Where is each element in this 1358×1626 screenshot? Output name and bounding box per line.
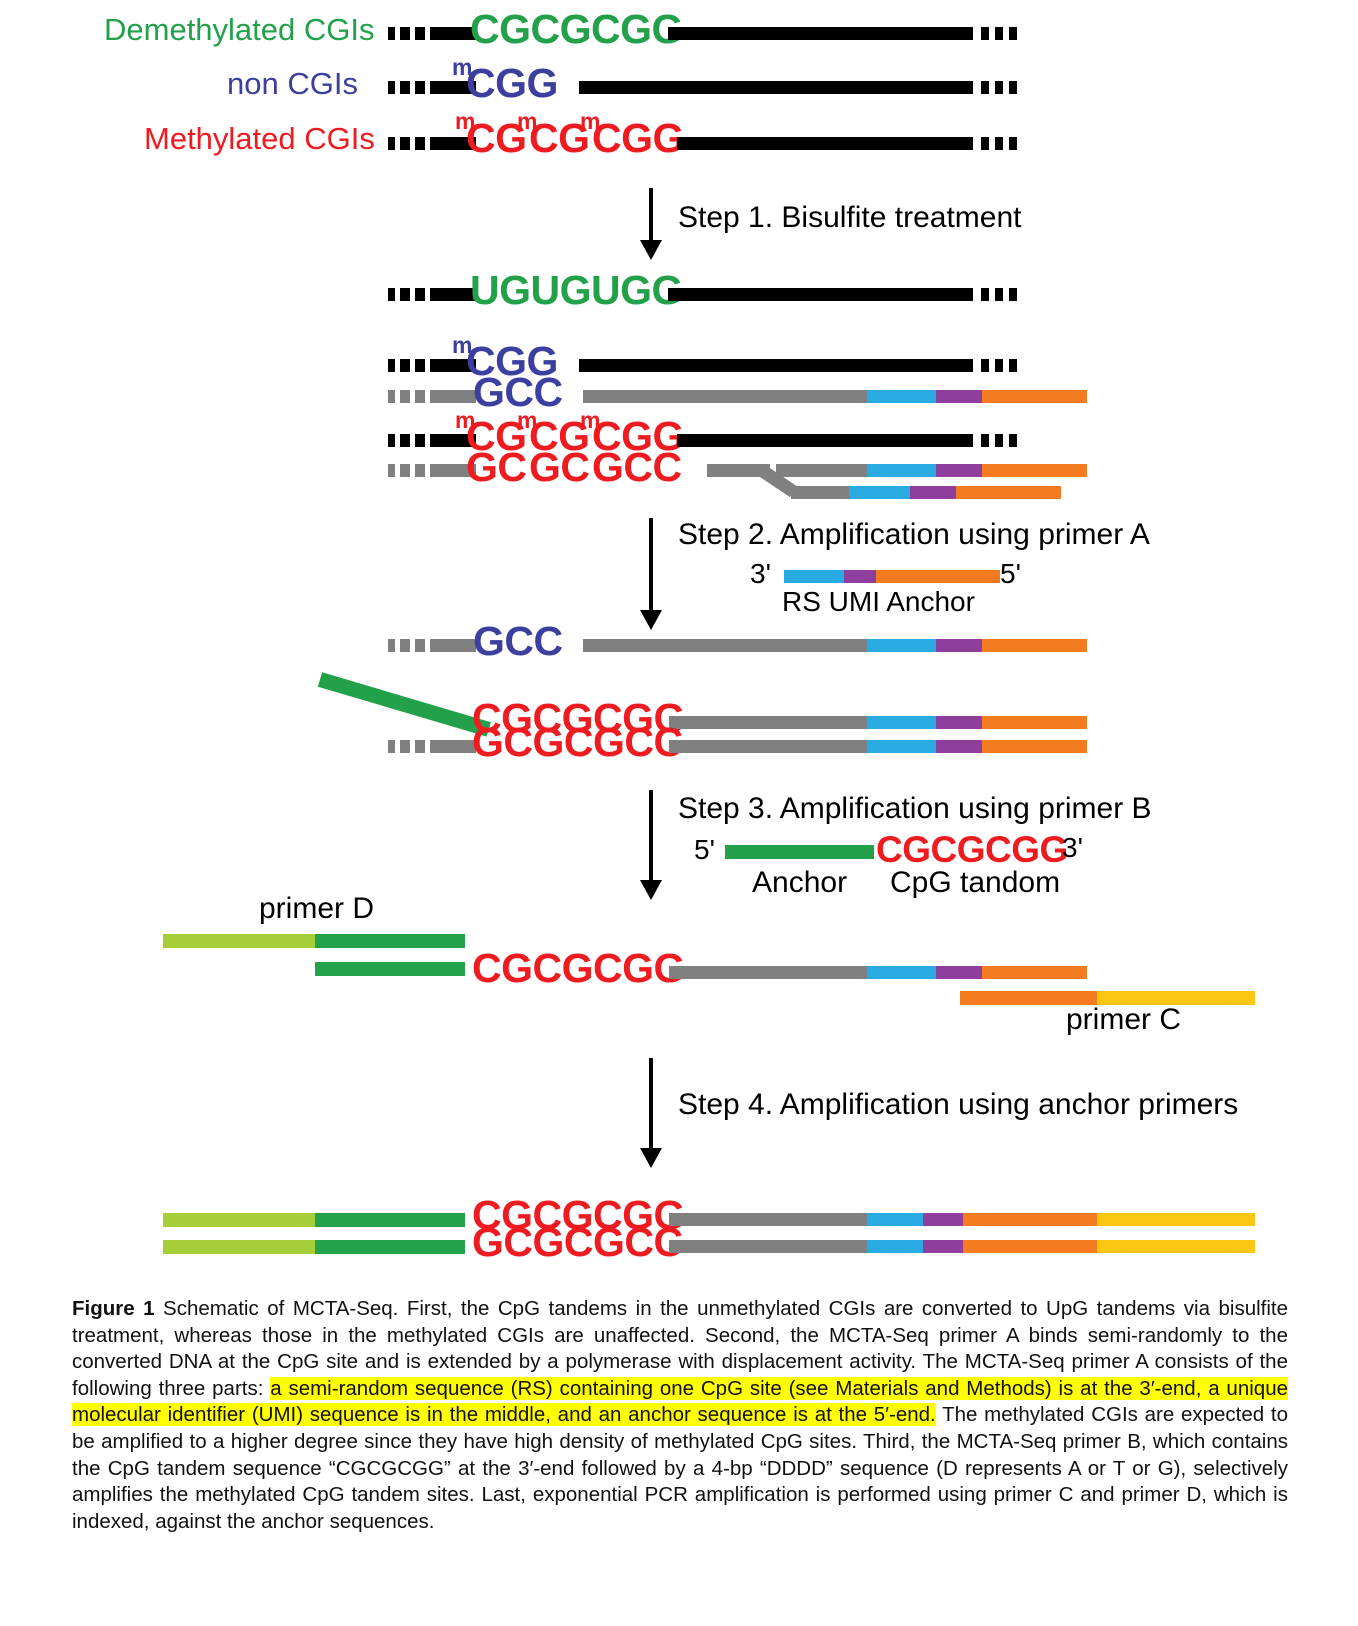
strand-grey-gcc [583, 639, 867, 652]
step3-label: Step 3. Amplification using primer B [678, 794, 1152, 824]
ticks-right-row2 [981, 81, 1017, 94]
ticks-left-row1 [388, 27, 476, 40]
segment-anchor-duplexB [982, 464, 1087, 477]
strand-black-row1 [668, 27, 973, 40]
sequence-non-cgi: CGG [466, 63, 558, 104]
final-bottom-grey [669, 1240, 867, 1253]
ticks-right-row3 [981, 137, 1017, 150]
sequence-duplexB-b1: GC [466, 447, 527, 488]
final-bottom-orange [963, 1240, 1097, 1253]
segment-rs-displaced [849, 486, 910, 499]
step1-arrow-head [640, 240, 662, 260]
ticks-left-duplexB-top [388, 434, 476, 447]
primerB-sequence: CGCGCGG [876, 831, 1068, 868]
step3-arrow-shaft [649, 790, 653, 886]
strand-black-duplexA [579, 359, 973, 372]
final-top-grey [669, 1213, 867, 1226]
final-bottom-purple [923, 1240, 963, 1253]
segment-rs-gcc [867, 639, 936, 652]
sequence-gcgcgcc-step2: GCGCGCC [472, 722, 683, 763]
segment-umi-duplexB [936, 464, 982, 477]
primerD-light-segment [163, 934, 315, 948]
final-top-orange [963, 1213, 1097, 1226]
ticks-left-row3 [388, 137, 476, 150]
ticks-right-converted [981, 288, 1017, 301]
ticks-left-gcgcgcc [388, 740, 476, 753]
sequence-duplexB-b2: GC [529, 447, 590, 488]
primerB-diagonal-anchor [318, 672, 491, 736]
label-non-cgis: non CGIs [227, 68, 358, 99]
primerA-umi-segment [844, 570, 876, 583]
strand-black-duplexB [677, 434, 973, 447]
step4-label: Step 4. Amplification using anchor prime… [678, 1090, 1238, 1120]
primerB-5prime: 5' [694, 836, 715, 864]
label-demethylated-cgis: Demethylated CGIs [104, 14, 375, 45]
strand-black-row2 [579, 81, 973, 94]
final-sequence-bottom: GCGCGCC [472, 1222, 683, 1263]
step2-label: Step 2. Amplification using primer A [678, 520, 1150, 550]
strand-black-row3 [677, 137, 973, 150]
strand-grey-cgcgcgg [669, 716, 867, 729]
strand-black-converted [668, 288, 973, 301]
step4-arrow-shaft [649, 1058, 653, 1154]
step2-arrow-head [640, 610, 662, 630]
primerB-anchor-label: Anchor [752, 868, 847, 898]
segment-umi-duplexA [936, 390, 982, 403]
segment-umi-cgcgcgg [936, 716, 982, 729]
step4-arrow-head [640, 1148, 662, 1168]
segment-anchor-gcc [982, 639, 1087, 652]
strand-grey-duplexB-b [776, 464, 867, 477]
ticks-left-converted [388, 288, 476, 301]
ticks-left-row2 [388, 81, 476, 94]
primerB-anchor-bar [725, 845, 874, 859]
strand-grey-step3 [669, 966, 867, 979]
sequence-duplexB-b3: GCC [592, 447, 682, 488]
segment-anchor-duplexA [982, 390, 1087, 403]
sequence-demethylated: CGCGCGG [470, 9, 683, 50]
segment-umi-displaced [910, 486, 956, 499]
segment-rs-duplexA [867, 390, 936, 403]
strand-green-step3 [315, 962, 465, 976]
ticks-right-duplexB [981, 434, 1017, 447]
primerA-rs-segment [784, 570, 844, 583]
final-bottom-lightgreen [163, 1240, 315, 1254]
ticks-left-duplexB-bottom [388, 464, 476, 477]
figure-panel: Demethylated CGIs CGCGCGG non CGIs m CGG… [0, 0, 1358, 1626]
final-top-cyan [867, 1213, 923, 1226]
sequence-methylated-3: CGG [592, 118, 684, 159]
segment-umi-gcc [936, 639, 982, 652]
figure-caption: Figure 1 Schematic of MCTA-Seq. First, t… [72, 1296, 1288, 1535]
segment-rs-step3 [867, 966, 936, 979]
ticks-right-row1 [981, 27, 1017, 40]
step1-arrow-shaft [649, 188, 653, 246]
segment-anchor-displaced [956, 486, 1061, 499]
final-bottom-yellow [1097, 1240, 1255, 1253]
ticks-left-duplexA-top [388, 359, 476, 372]
final-top-yellow [1097, 1213, 1255, 1226]
primerA-5prime: 5' [1000, 560, 1021, 588]
primerB-3prime: 3' [1062, 834, 1083, 862]
primer-c-label: primer C [1066, 1005, 1181, 1035]
sequence-converted: UGUGUGG [470, 270, 683, 311]
primerB-tandem-label: CpG tandom [890, 868, 1060, 898]
segment-umi-gcgcgcc [936, 740, 982, 753]
strand-grey-duplexB-jog-tail [791, 486, 849, 499]
caption-figure-label: Figure 1 [72, 1297, 155, 1320]
segment-rs-gcgcgcc [867, 740, 936, 753]
final-top-purple [923, 1213, 963, 1226]
final-bottom-darkgreen [315, 1240, 465, 1254]
segment-anchor-gcgcgcc [982, 740, 1087, 753]
primerA-3prime: 3' [750, 560, 771, 588]
final-bottom-cyan [867, 1240, 923, 1253]
strand-grey-gcgcgcc [669, 740, 867, 753]
primerA-anchor-segment [876, 570, 1000, 583]
ticks-left-gcc [388, 639, 476, 652]
step2-arrow-shaft [649, 518, 653, 616]
ticks-right-duplexA [981, 359, 1017, 372]
sequence-gcc-strand: GCC [473, 621, 563, 662]
primer-d-label: primer D [259, 894, 374, 924]
final-top-darkgreen [315, 1213, 465, 1227]
segment-anchor-step3 [982, 966, 1087, 979]
step1-label: Step 1. Bisulfite treatment [678, 203, 1022, 233]
ticks-left-duplexA-bottom [388, 390, 476, 403]
primerA-parts-label: RS UMI Anchor [782, 588, 975, 616]
strand-grey-duplexA [583, 390, 867, 403]
segment-umi-step3 [936, 966, 982, 979]
segment-rs-duplexB [867, 464, 936, 477]
final-top-lightgreen [163, 1213, 315, 1227]
sequence-cgcgcgg-step3: CGCGCGG [472, 948, 685, 989]
primerD-dark-segment [315, 934, 465, 948]
segment-anchor-cgcgcgg [982, 716, 1087, 729]
segment-rs-cgcgcgg [867, 716, 936, 729]
step3-arrow-head [640, 880, 662, 900]
label-methylated-cgis: Methylated CGIs [144, 123, 375, 154]
